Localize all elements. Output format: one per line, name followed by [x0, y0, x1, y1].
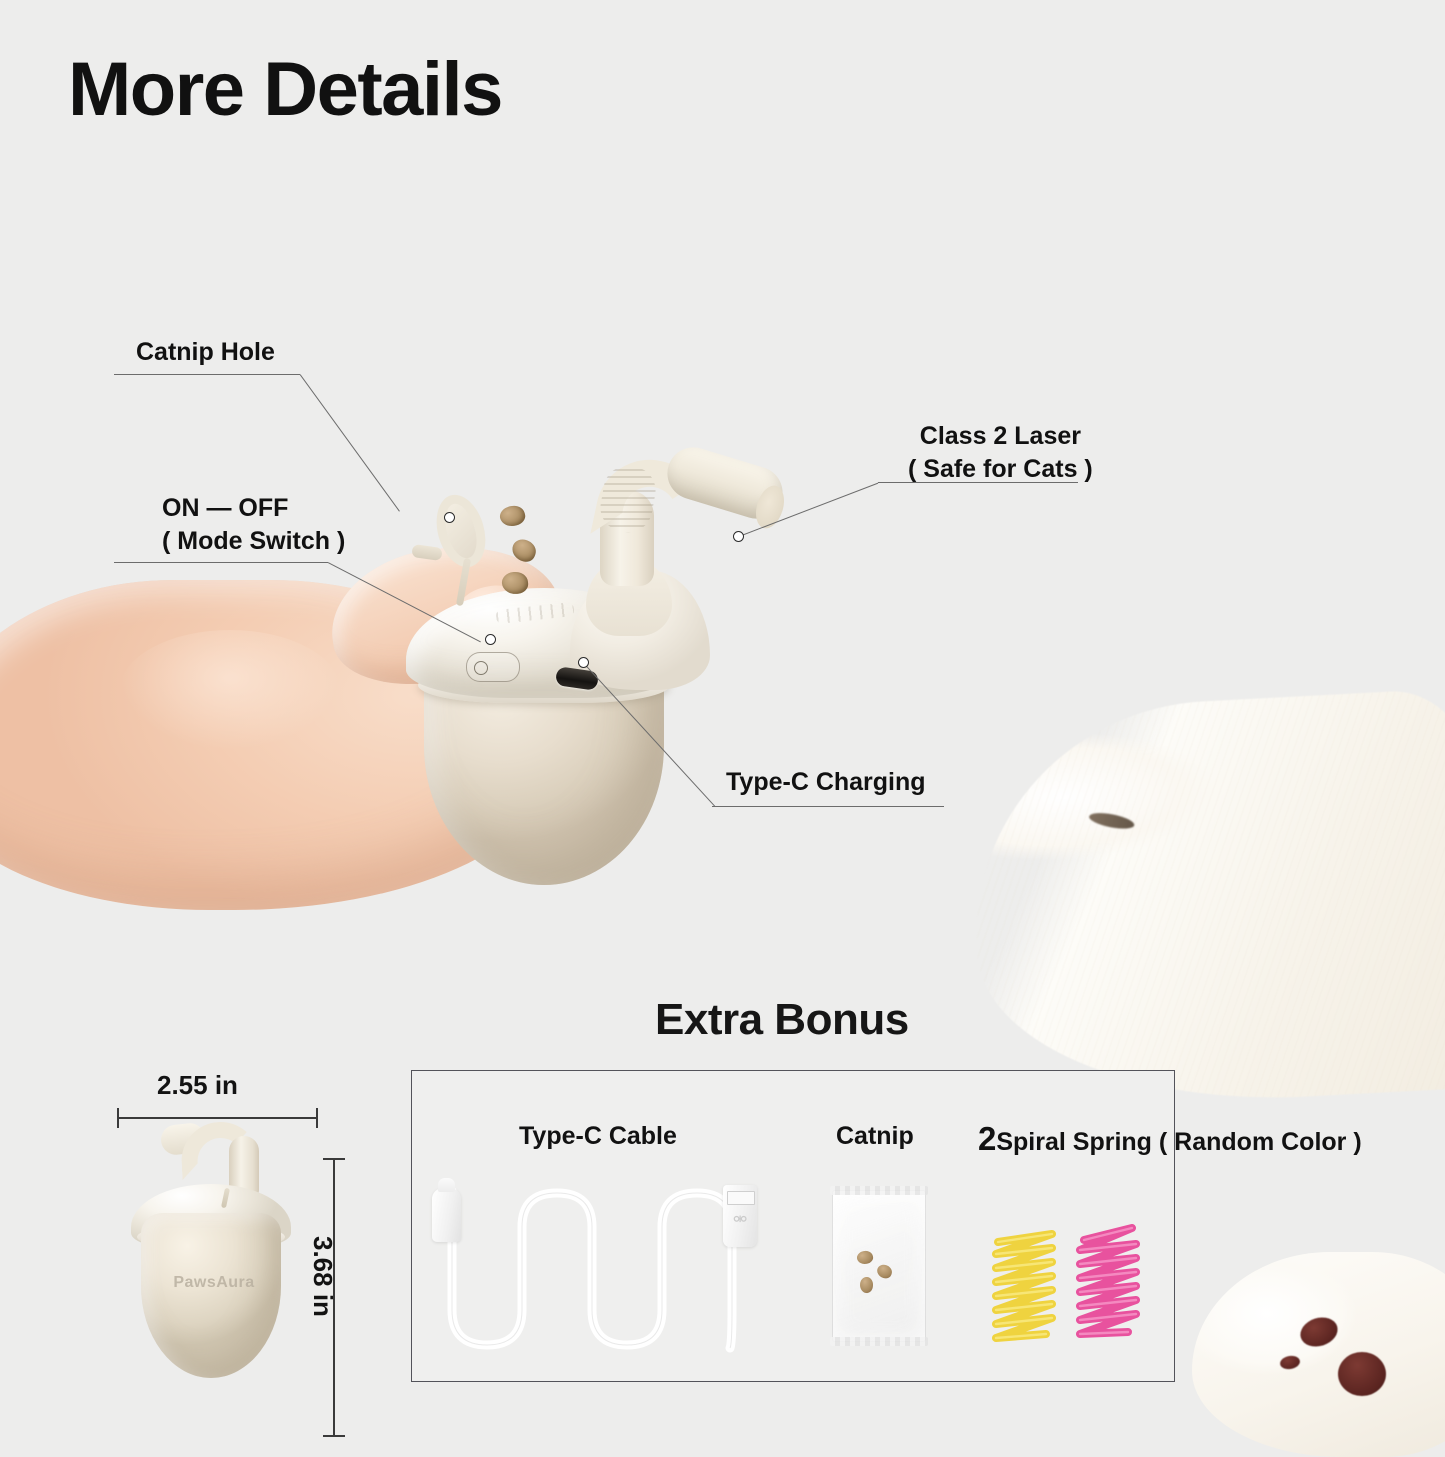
cat-paw-upper: [965, 687, 1445, 1114]
catnip-seed: [875, 1263, 893, 1280]
callout-mode-switch-line2: ( Mode Switch ): [162, 525, 345, 558]
spiral-spring-yellow: [988, 1228, 1062, 1356]
leader-line-laser-horizontal: [878, 482, 1078, 483]
callout-type-c: Type-C Charging: [726, 766, 926, 799]
callout-catnip-hole-line1: Catnip Hole: [136, 338, 275, 366]
callout-mode-switch-line1: ON — OFF: [162, 494, 288, 522]
spiral-spring-pink: [1072, 1222, 1146, 1356]
dimension-width-label: 2.55 in: [157, 1070, 238, 1101]
cat-fur-texture: [965, 687, 1445, 1114]
bonus-label-cable-text: Type-C Cable: [519, 1122, 677, 1150]
infographic-canvas: More Details Cat: [0, 0, 1445, 1445]
leader-dot-catnip-hole: [444, 512, 455, 523]
bonus-title: Extra Bonus: [655, 995, 909, 1045]
cat-paw-pad: [1279, 1354, 1301, 1370]
brand-logo: PawsAura: [159, 1274, 269, 1292]
cat-paw-lower: [1192, 1252, 1445, 1457]
catnip-pellet: [498, 503, 527, 528]
leader-line-catnip-hole-horizontal: [114, 374, 300, 375]
dimension-drawing: 2.55 in 3.68 in PawsAura: [95, 1040, 365, 1420]
dimension-width-cap-right: [316, 1108, 318, 1128]
dimension-height-line: [333, 1158, 335, 1436]
spring-yellow-path: [988, 1228, 1062, 1356]
leader-line-type-c-horizontal: [712, 806, 944, 807]
callout-catnip-hole: Catnip Hole: [136, 336, 275, 369]
main-product-photo: [0, 430, 760, 990]
catnip-seed: [856, 1249, 874, 1265]
cat-paw-pad: [1297, 1313, 1342, 1351]
usb-a-connector: ⚮: [723, 1185, 757, 1247]
bonus-label-cable: Type-C Cable: [519, 1120, 677, 1153]
spring-pink-path: [1072, 1222, 1146, 1356]
leader-dot-laser: [733, 531, 744, 542]
bonus-label-catnip: Catnip: [836, 1120, 914, 1153]
dimension-height-cap-bottom: [323, 1435, 345, 1437]
cat-paw-pad: [1338, 1352, 1386, 1396]
dimension-height-cap-top: [323, 1158, 345, 1160]
hand-highlight: [120, 630, 340, 750]
usb-icon: ⚮: [733, 1211, 747, 1228]
catnip-seed: [859, 1276, 874, 1293]
leader-dot-type-c: [578, 657, 589, 668]
callout-type-c-line1: Type-C Charging: [726, 768, 926, 796]
callout-laser-line1: Class 2 Laser: [920, 422, 1081, 450]
small-product-body: [141, 1213, 281, 1378]
bonus-label-spring-text: Spiral Spring: [996, 1128, 1152, 1156]
usb-c-connector: [432, 1188, 461, 1242]
bonus-label-spring-sub: ( Random Color ): [1159, 1128, 1362, 1156]
page-title: More Details: [68, 52, 502, 128]
dimension-width-cap-left: [117, 1108, 119, 1128]
callout-mode-switch: ON — OFF ( Mode Switch ): [162, 492, 345, 558]
callout-laser: Class 2 Laser ( Safe for Cats ): [908, 420, 1093, 486]
catnip-bag: [832, 1190, 926, 1342]
bonus-label-spring: 2Spiral Spring ( Random Color ): [978, 1118, 1362, 1161]
bonus-label-catnip-text: Catnip: [836, 1122, 914, 1150]
mode-switch-button[interactable]: [466, 652, 520, 682]
leader-line-mode-switch-horizontal: [114, 562, 328, 563]
bonus-spring-count: 2: [978, 1120, 996, 1157]
dimension-width-line: [117, 1117, 317, 1119]
leader-dot-mode-switch: [485, 634, 496, 645]
